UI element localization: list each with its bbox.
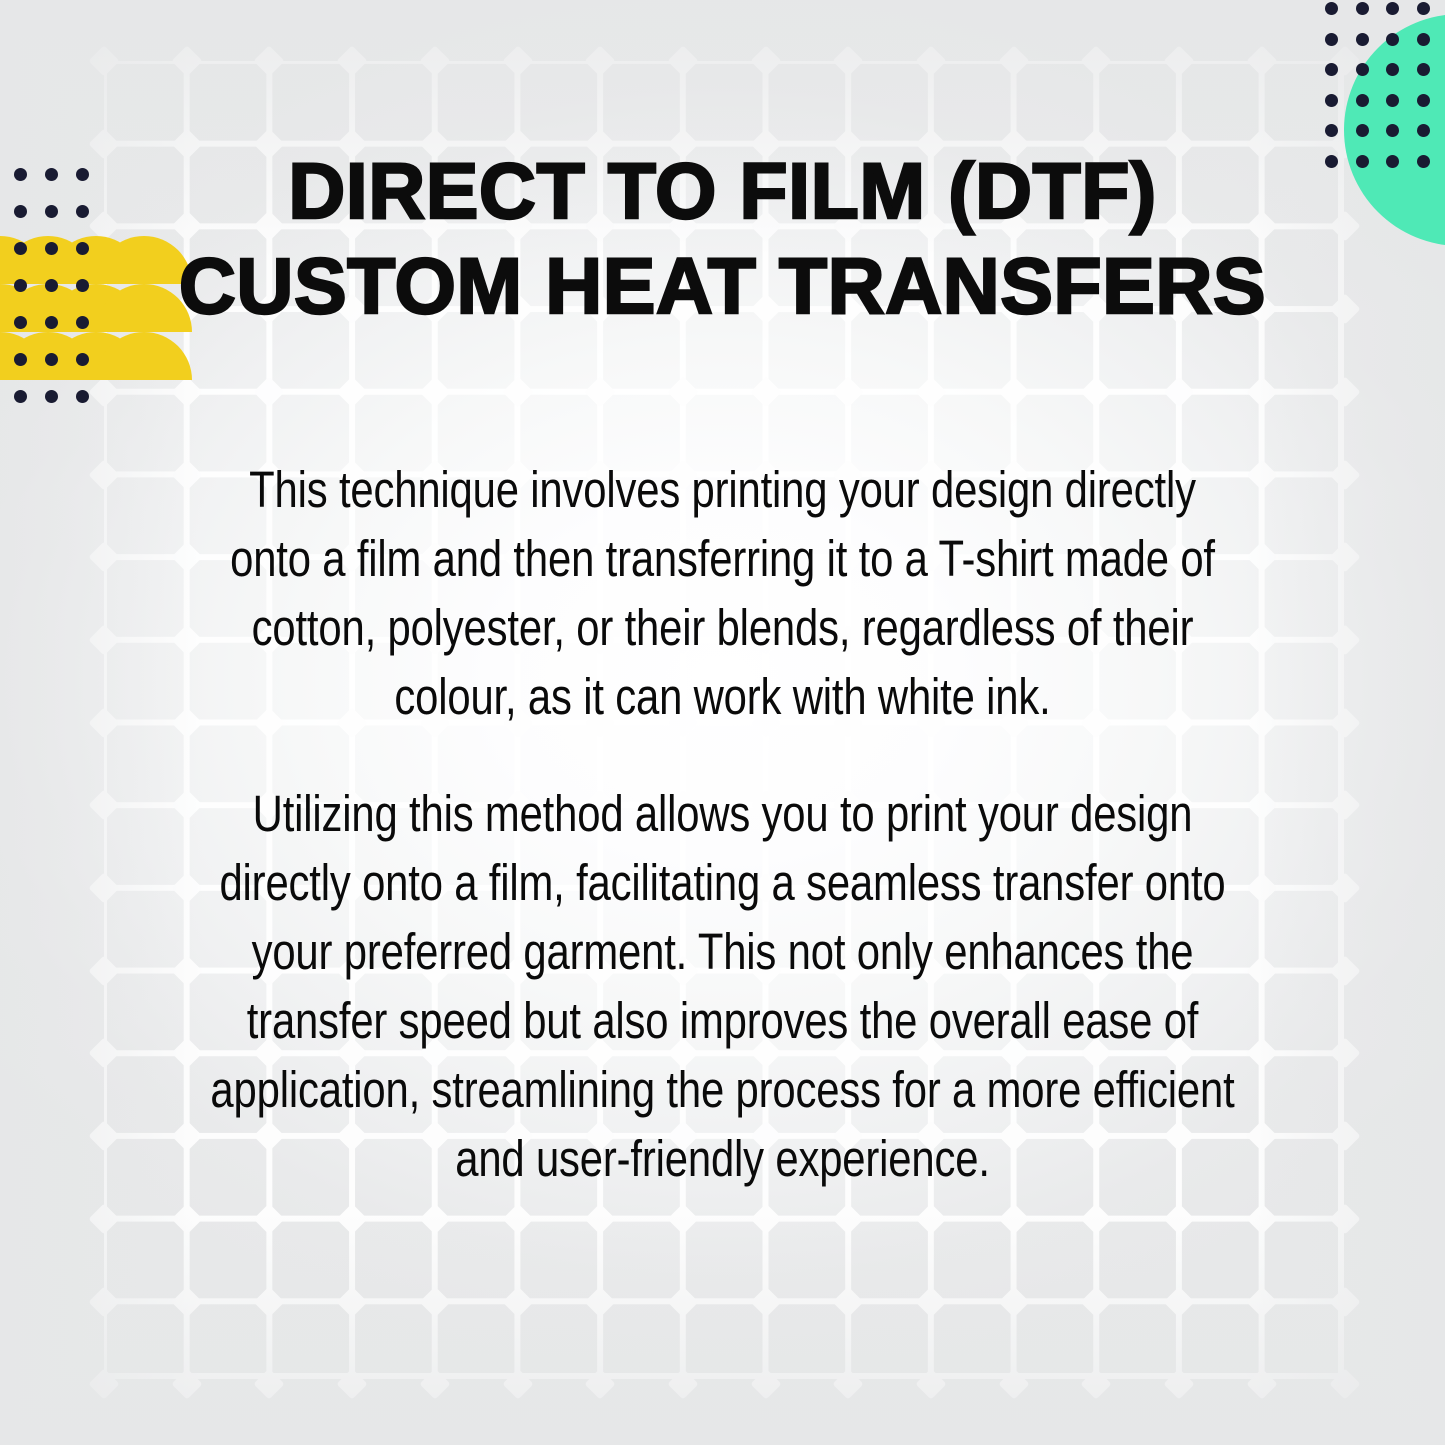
paragraph-1: This technique involves printing your de… — [208, 455, 1237, 731]
page-title: DIRECT TO FILM (DTF) CUSTOM HEAT TRANSFE… — [0, 143, 1445, 333]
poster-canvas: DIRECT TO FILM (DTF) CUSTOM HEAT TRANSFE… — [0, 0, 1445, 1445]
paragraph-2: Utilizing this method allows you to prin… — [208, 779, 1237, 1193]
content-area: DIRECT TO FILM (DTF) CUSTOM HEAT TRANSFE… — [0, 0, 1445, 1445]
body-copy: This technique involves printing your de… — [95, 455, 1350, 1193]
